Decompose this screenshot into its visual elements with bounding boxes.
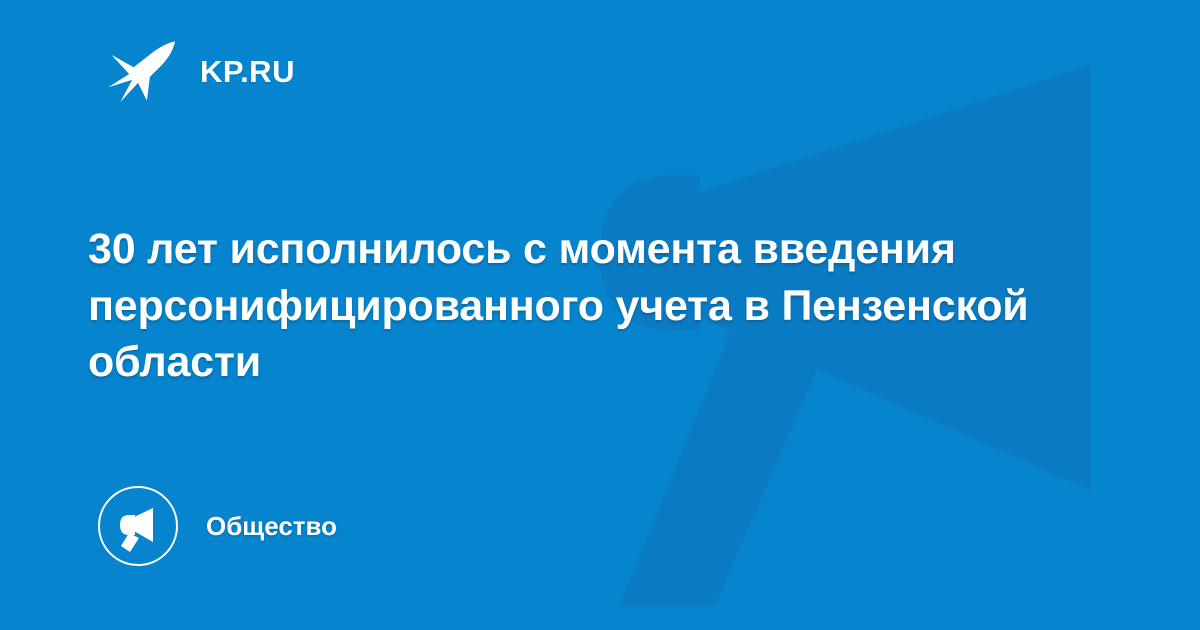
brand-logo[interactable]: KP.RU <box>104 34 295 108</box>
swallow-bird-icon <box>104 34 178 108</box>
page-title: 30 лет исполнилось с момента введения пе… <box>88 221 1098 391</box>
category-badge[interactable]: Общество <box>96 484 337 568</box>
brand-name-label: KP.RU <box>200 56 295 87</box>
category-label: Общество <box>206 513 337 539</box>
article-share-card: KP.RU 30 лет исполнилось с момента введе… <box>0 0 1200 630</box>
megaphone-icon <box>96 484 180 568</box>
